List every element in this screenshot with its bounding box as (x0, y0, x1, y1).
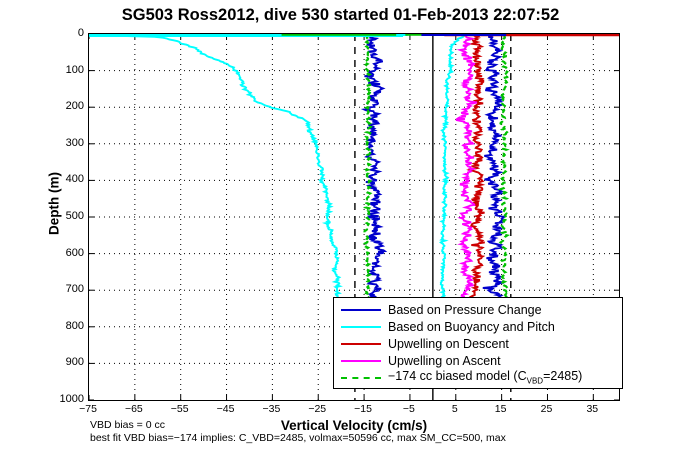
x-tick-label: 25 (541, 403, 553, 415)
page-title: SG503 Ross2012, dive 530 started 01-Feb-… (0, 6, 681, 25)
legend-item-3[interactable]: Upwelling on Ascent (334, 352, 622, 369)
legend-swatch-icon (341, 355, 381, 367)
x-tick-label: −65 (125, 403, 143, 415)
x-tick-label: −15 (354, 403, 372, 415)
x-tick-label: −45 (217, 403, 235, 415)
x-tick-label: 35 (586, 403, 598, 415)
x-tick-label: −75 (79, 403, 97, 415)
legend-label: Based on Pressure Change (381, 303, 542, 317)
y-tick-label: 300 (66, 137, 84, 149)
x-axis-title: Vertical Velocity (cm/s) (88, 418, 620, 433)
y-tick-label: 800 (66, 320, 84, 332)
legend-label-subscript: VBD (527, 377, 543, 386)
x-tick-label: 5 (452, 403, 458, 415)
y-tick-label: 400 (66, 173, 84, 185)
x-tick-label: −35 (262, 403, 280, 415)
legend-swatch-icon (341, 372, 381, 384)
legend-item-4[interactable]: −174 cc biased model (CVBD=2485) (334, 369, 622, 386)
y-tick-label: 0 (78, 27, 84, 39)
x-tick-label: −55 (171, 403, 189, 415)
y-tick-label: 900 (66, 356, 84, 368)
x-tick-label: −25 (308, 403, 326, 415)
y-tick-label: 700 (66, 283, 84, 295)
y-tick-label: 100 (66, 64, 84, 76)
legend-item-1[interactable]: Based on Buoyancy and Pitch (334, 318, 622, 335)
legend-label: −174 cc biased model (CVBD=2485) (381, 369, 582, 386)
y-axis-tick-labels: 01002003004005006007008009001000 (38, 33, 84, 401)
y-tick-label: 600 (66, 247, 84, 259)
x-tick-label: −5 (403, 403, 415, 415)
y-tick-label: 500 (66, 210, 84, 222)
y-tick-label: 200 (66, 100, 84, 112)
footnote-vbd-bias: VBD bias = 0 cc (90, 419, 165, 431)
x-tick-label: 15 (495, 403, 507, 415)
footnote-best-fit: best fit VBD bias=−174 implies: C_VBD=24… (90, 432, 506, 444)
legend-item-0[interactable]: Based on Pressure Change (334, 301, 622, 318)
x-axis-tick-labels: −75−65−55−45−35−25−15−55152535 (88, 403, 620, 419)
legend-label: Upwelling on Descent (381, 337, 509, 351)
legend-item-2[interactable]: Upwelling on Descent (334, 335, 622, 352)
legend-swatch-icon (341, 304, 381, 316)
chart-legend[interactable]: Based on Pressure ChangeBased on Buoyanc… (333, 297, 623, 389)
legend-swatch-icon (341, 338, 381, 350)
legend-swatch-icon (341, 321, 381, 333)
legend-label: Based on Buoyancy and Pitch (381, 320, 555, 334)
legend-label: Upwelling on Ascent (381, 354, 501, 368)
